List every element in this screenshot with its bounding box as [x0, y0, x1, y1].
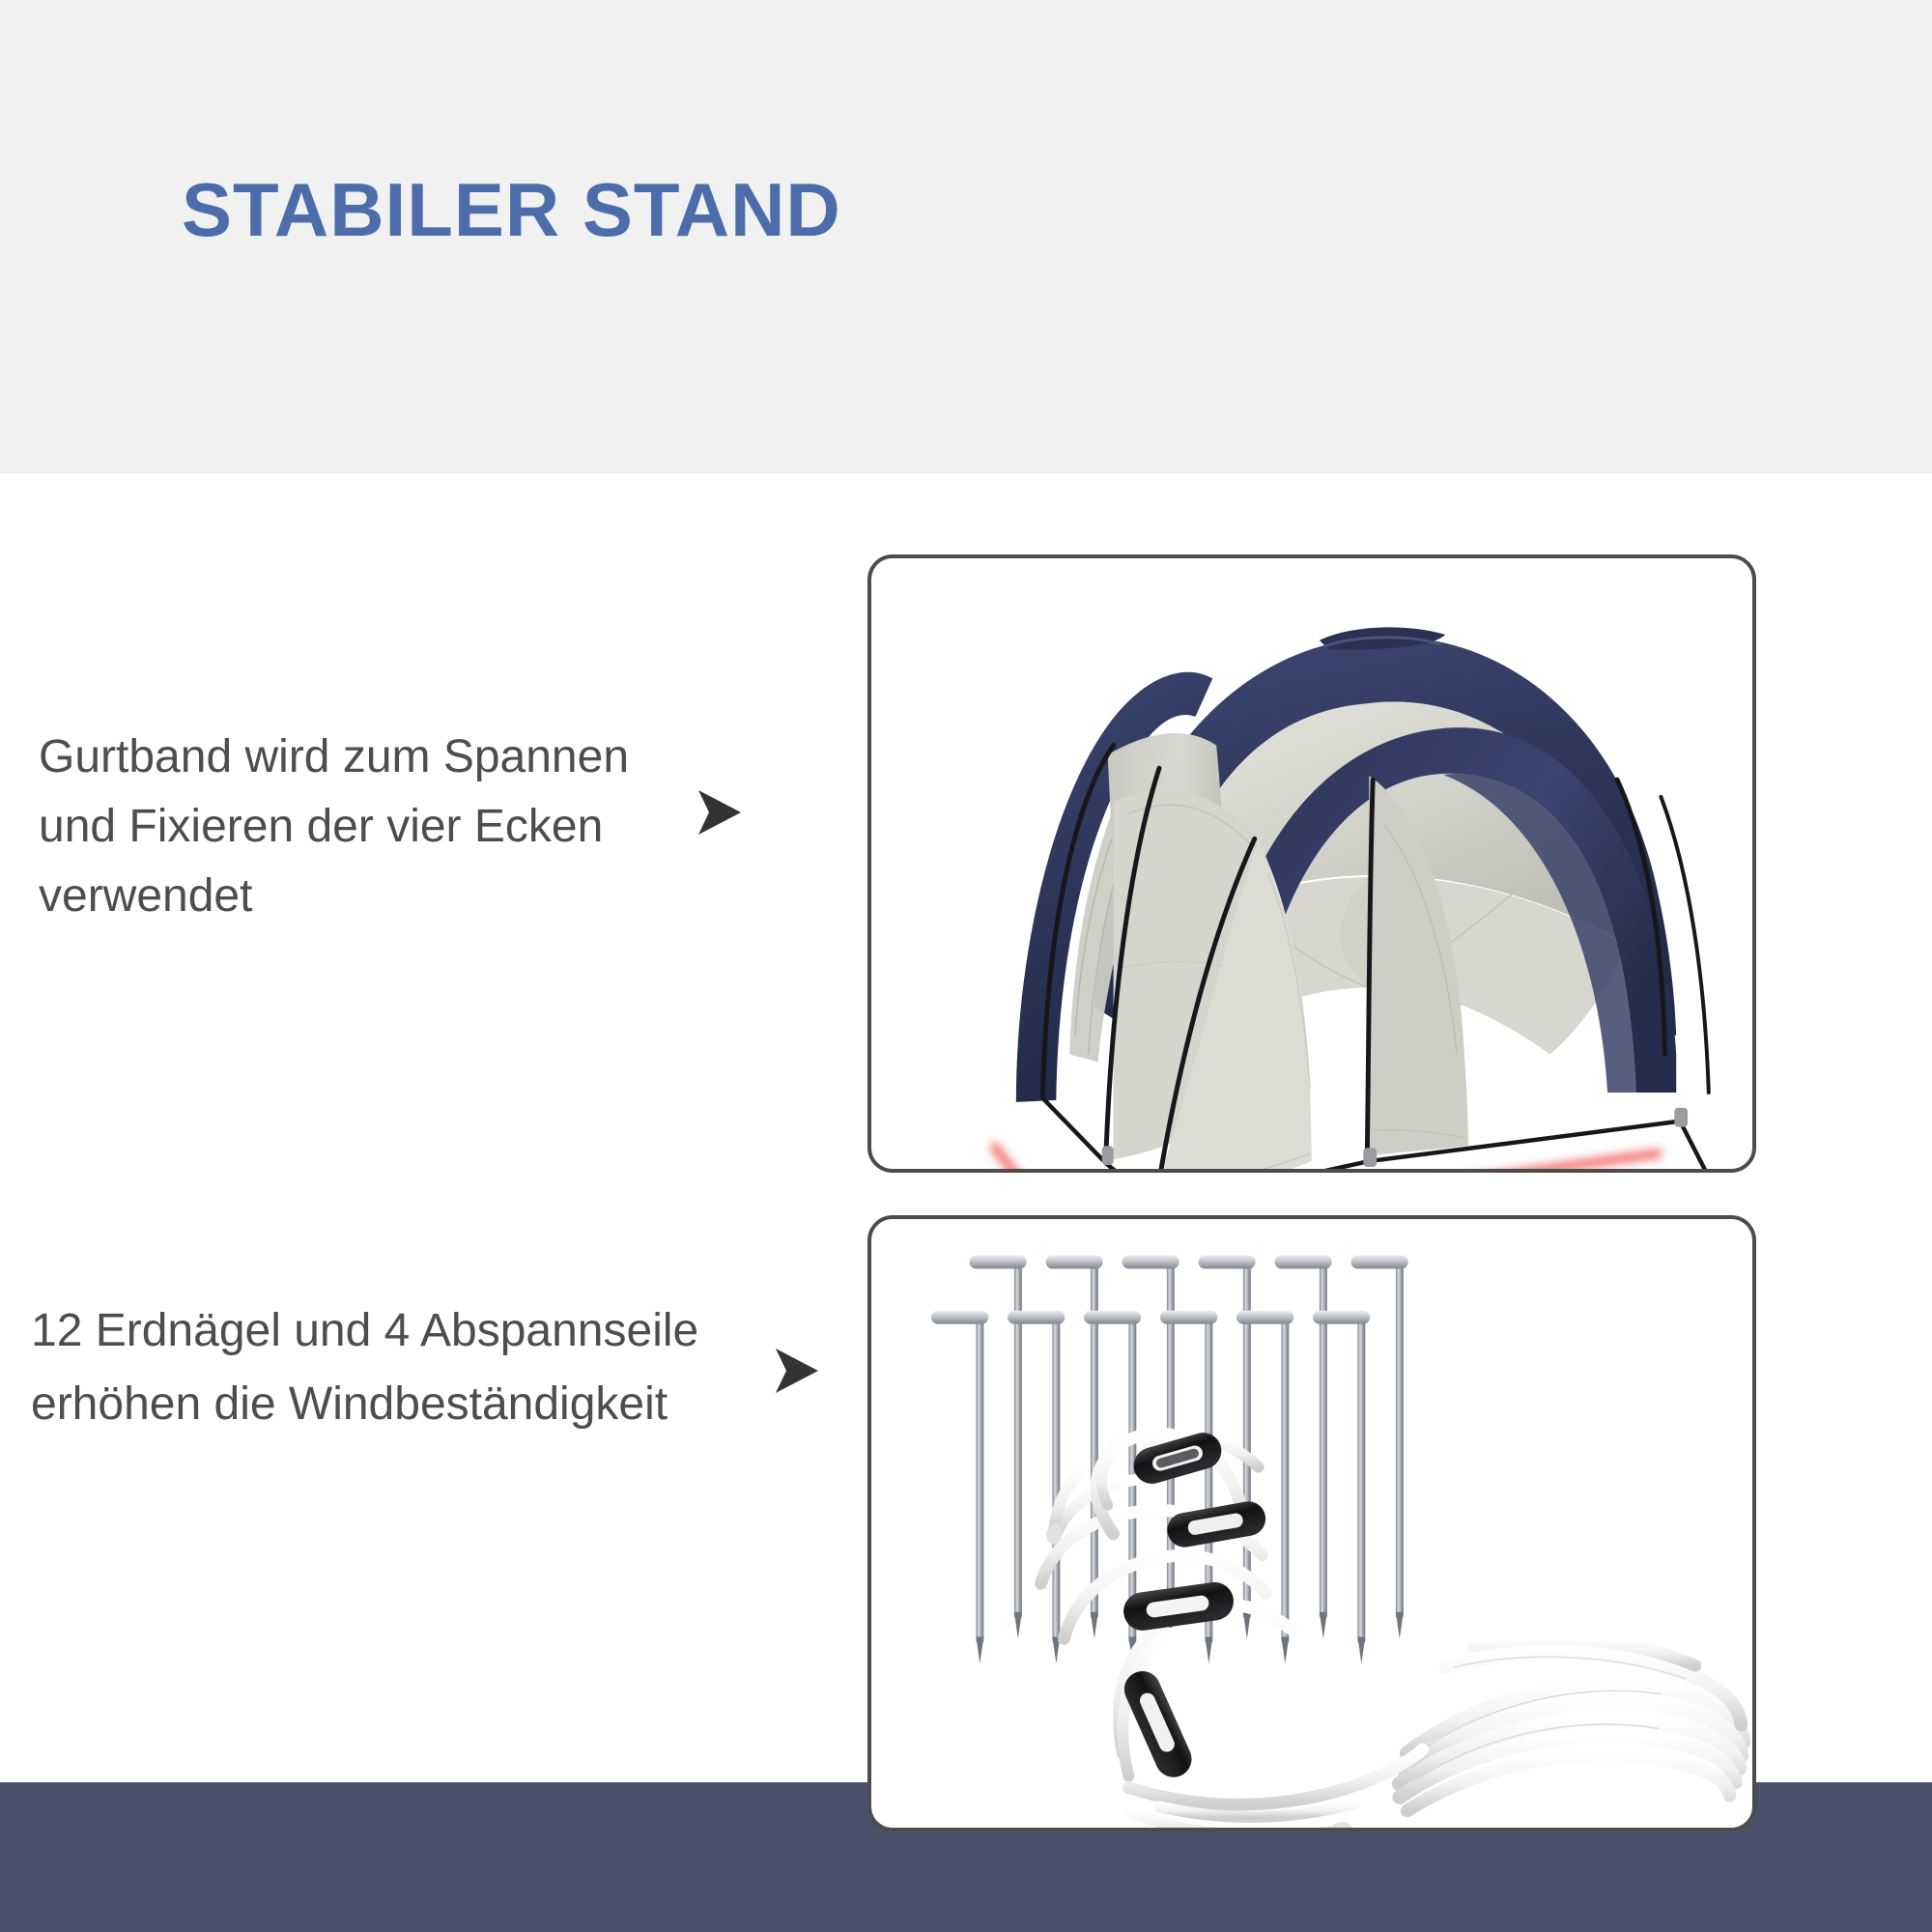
dome-shelter-photo-panel — [867, 554, 1756, 1173]
caption-line: erhöhen die Windbeständigkeit — [31, 1368, 698, 1441]
feature-caption-webbing-straps: Gurtband wird zum Spannen und Fixieren d… — [39, 723, 629, 931]
caption-line: Gurtband wird zum Spannen — [39, 723, 629, 792]
stakes-and-ropes-photo-panel — [867, 1215, 1756, 1832]
page-title: STABILER STAND — [182, 172, 841, 247]
caption-line: verwendet — [39, 862, 629, 931]
caption-line: und Fixieren der vier Ecken — [39, 792, 629, 862]
feature-caption-stakes-and-guylines: 12 Erdnägel und 4 Abspannseile erhöhen d… — [31, 1294, 698, 1441]
arrow-right-icon — [691, 784, 747, 840]
caption-line: 12 Erdnägel und 4 Abspannseile — [31, 1294, 698, 1368]
dome-shelter-illustration — [871, 558, 1752, 1169]
stakes-and-ropes-illustration — [871, 1219, 1752, 1828]
arrow-right-icon — [768, 1343, 824, 1399]
